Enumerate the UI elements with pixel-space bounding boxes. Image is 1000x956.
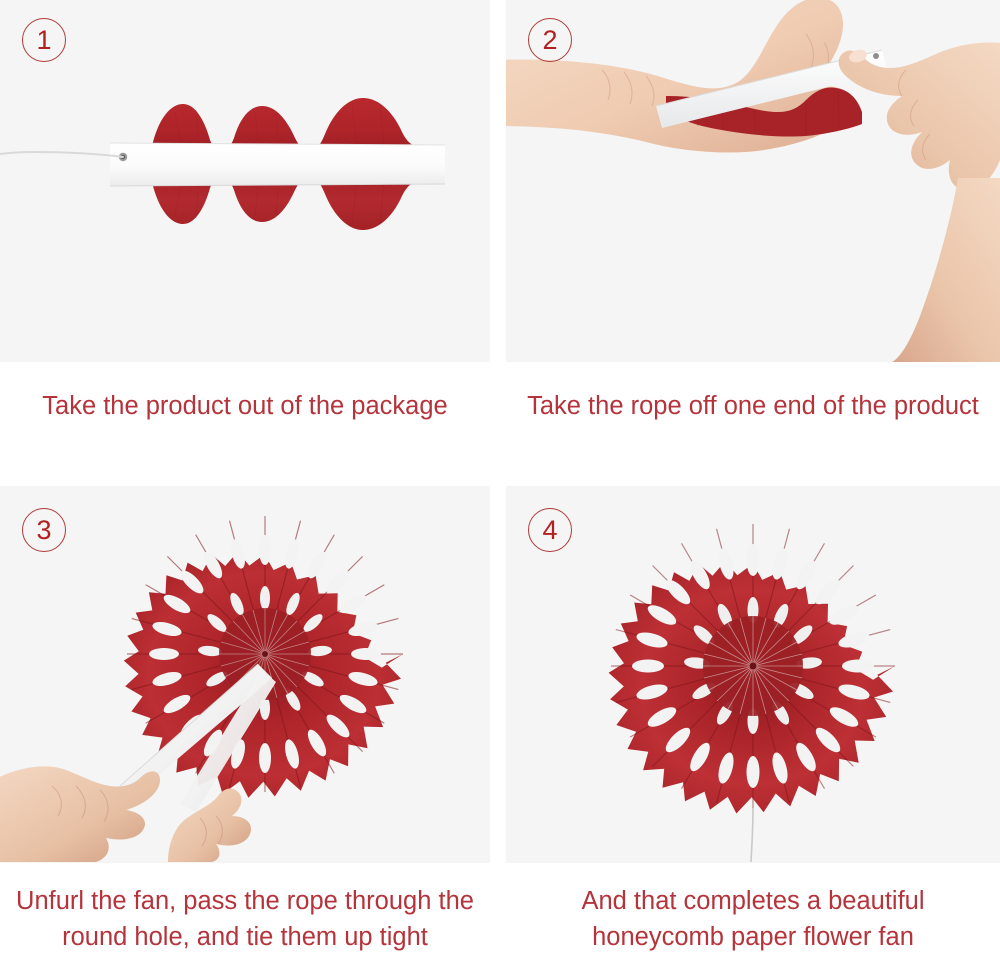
finished-honeycomb-fan-illustration (506, 486, 1000, 863)
step-3-caption: Unfurl the fan, pass the rope through th… (0, 863, 490, 956)
step-1-badge: 1 (22, 18, 66, 62)
step-panel-4: 4 And that completes a beautiful honeyco… (506, 486, 1000, 956)
folded-fan-with-rope-illustration (0, 0, 490, 362)
caption-line: Take the rope off one end of the product (527, 388, 979, 424)
white-binding-band (110, 143, 445, 186)
step-4-caption: And that completes a beautiful honeycomb… (506, 863, 1000, 956)
right-hand-grip (168, 789, 251, 862)
step-1-caption: Take the product out of the package (0, 362, 490, 440)
step-3-badge: 3 (22, 508, 66, 552)
caption-line: round hole, and tie them up tight (62, 919, 428, 955)
step-2-badge: 2 (528, 18, 572, 62)
right-hand (839, 42, 1000, 190)
step-panel-2: 2 Take the rope off one end of the produ… (506, 0, 1000, 440)
step-2-image: 2 (506, 0, 1000, 362)
step-panel-1: 1 Take the product out of the package (0, 0, 490, 440)
fan-center-point (750, 663, 757, 670)
step-4-image: 4 (506, 486, 1000, 863)
hands-removing-rope-illustration (506, 0, 1000, 362)
caption-line: And that completes a beautiful (581, 883, 924, 919)
hands-unfurling-fan-illustration (0, 486, 490, 863)
caption-line: Unfurl the fan, pass the rope through th… (16, 883, 474, 919)
instruction-sheet: 1 Take the product out of the package (0, 0, 1000, 956)
hanging-string (751, 808, 753, 862)
rope-string (0, 152, 123, 157)
step-3-image: 3 (0, 486, 490, 863)
caption-line: honeycomb paper flower fan (592, 919, 914, 955)
step-4-badge: 4 (528, 508, 572, 552)
step-1-image: 1 (0, 0, 490, 362)
grommet-hole (873, 53, 879, 59)
right-forearm (892, 178, 1000, 362)
caption-line: Take the product out of the package (42, 388, 447, 424)
step-panel-3: 3 Unfurl the fan, pass the rope through … (0, 486, 490, 956)
fan-center-point (262, 651, 268, 657)
step-2-caption: Take the rope off one end of the product (506, 362, 1000, 440)
